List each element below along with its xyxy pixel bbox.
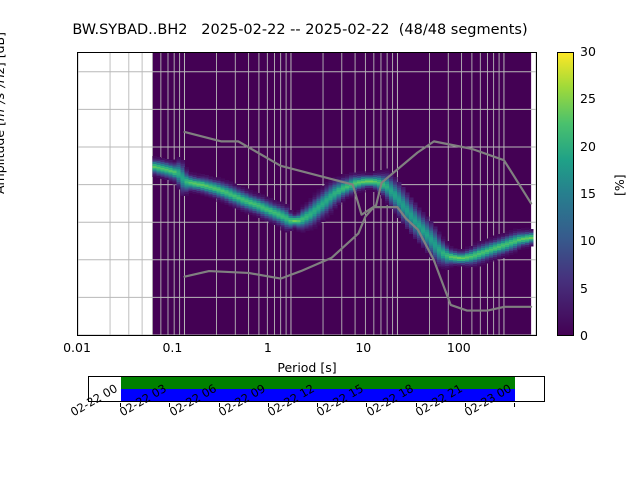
ppsd-heatmap-svg (78, 53, 536, 335)
y-axis-label-suffix: ] [dB] (0, 32, 7, 67)
x-tick-label: 0.01 (63, 340, 91, 355)
figure-title: BW.SYBAD..BH2 2025-02-22 -- 2025-02-22 (… (0, 22, 600, 38)
y-axis-unit-num-sup: 2 (0, 103, 2, 108)
ppsd-figure: BW.SYBAD..BH2 2025-02-22 -- 2025-02-22 (… (0, 0, 640, 480)
x-tick-label: 100 (447, 340, 471, 355)
colorbar-tick-label: 15 (580, 186, 596, 201)
colorbar-tick-label: 25 (580, 91, 596, 106)
x-tick-label: 10 (355, 340, 371, 355)
colorbar[interactable] (557, 52, 574, 336)
y-axis-unit-num: m (0, 109, 7, 121)
y-axis-label-prefix: Amplitude [ (0, 121, 7, 194)
y-axis-label: Amplitude [m2/s4/Hz] [dB] (0, 32, 7, 194)
y-axis-unit-den-sup: 4 (0, 87, 2, 92)
colorbar-tick-label: 20 (580, 139, 596, 154)
colorbar-tick-label: 10 (580, 233, 596, 248)
colorbar-label: [%] (612, 174, 627, 196)
colorbar-tick-label: 0 (580, 328, 588, 343)
y-axis-unit-tail: /Hz (0, 67, 7, 87)
x-tick-label: 0.1 (162, 340, 182, 355)
coverage-tick (514, 403, 515, 407)
y-axis-unit-den: /s (0, 93, 7, 104)
ppsd-plot-area[interactable] (77, 52, 537, 336)
colorbar-tick-label: 30 (580, 44, 596, 59)
x-axis-label: Period [s] (77, 360, 537, 375)
x-tick-label: 1 (264, 340, 272, 355)
colorbar-tick-label: 5 (580, 281, 588, 296)
